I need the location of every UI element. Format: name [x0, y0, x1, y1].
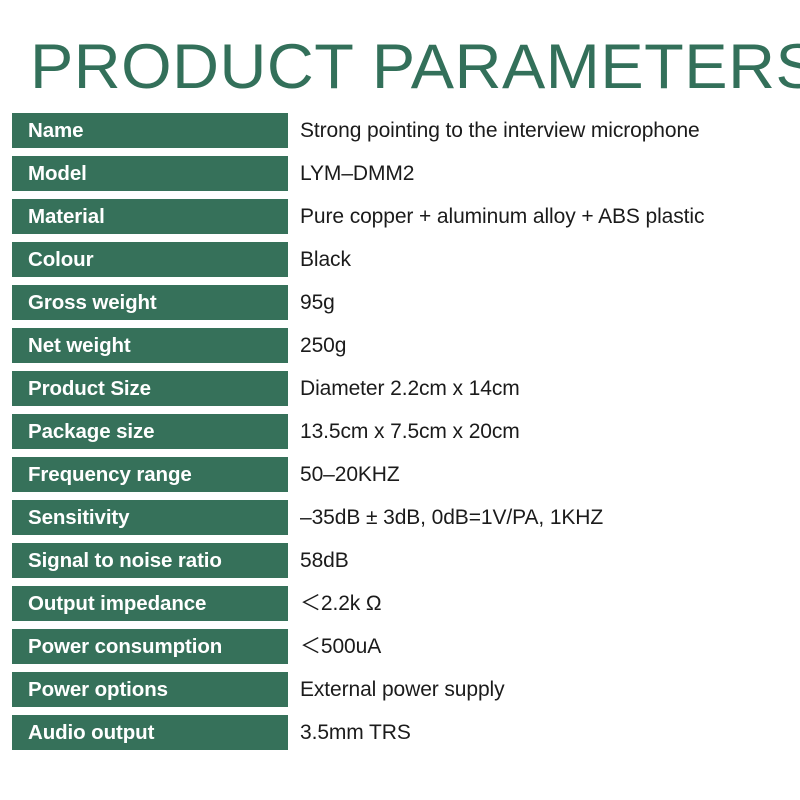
spec-value: Diameter 2.2cm x 14cm: [300, 371, 520, 406]
spec-value: LYM–DMM2: [300, 156, 414, 191]
spec-value: 250g: [300, 328, 346, 363]
spec-value: Pure copper + aluminum alloy + ABS plast…: [300, 199, 704, 234]
spec-value: –35dB ± 3dB, 0dB=1V/PA, 1KHZ: [300, 500, 603, 535]
product-parameters-sheet: PRODUCT PARAMETERS NameStrong pointing t…: [0, 0, 800, 800]
table-row: Product SizeDiameter 2.2cm x 14cm: [0, 371, 800, 414]
spec-label: Colour: [12, 242, 288, 277]
spec-label: Power consumption: [12, 629, 288, 664]
table-row: Net weight250g: [0, 328, 800, 371]
spec-value: 13.5cm x 7.5cm x 20cm: [300, 414, 520, 449]
spec-label: Gross weight: [12, 285, 288, 320]
spec-value: Black: [300, 242, 351, 277]
table-row: Gross weight95g: [0, 285, 800, 328]
spec-value: 3.5mm TRS: [300, 715, 411, 750]
table-row: Power optionsExternal power supply: [0, 672, 800, 715]
table-row: Output impedance＜2.2k Ω: [0, 586, 800, 629]
spec-label: Signal to noise ratio: [12, 543, 288, 578]
spec-value: External power supply: [300, 672, 505, 707]
spec-value: ＜2.2k Ω: [300, 586, 382, 621]
spec-value: ＜500uA: [300, 629, 381, 664]
table-row: ColourBlack: [0, 242, 800, 285]
spec-label: Net weight: [12, 328, 288, 363]
spec-label: Material: [12, 199, 288, 234]
table-row: Sensitivity–35dB ± 3dB, 0dB=1V/PA, 1KHZ: [0, 500, 800, 543]
spec-value: 58dB: [300, 543, 349, 578]
table-row: Frequency range50–20KHZ: [0, 457, 800, 500]
spec-label: Audio output: [12, 715, 288, 750]
spec-value: 50–20KHZ: [300, 457, 400, 492]
table-row: NameStrong pointing to the interview mic…: [0, 113, 800, 156]
table-row: Signal to noise ratio58dB: [0, 543, 800, 586]
spec-label: Model: [12, 156, 288, 191]
spec-label: Name: [12, 113, 288, 148]
spec-label: Package size: [12, 414, 288, 449]
spec-table: NameStrong pointing to the interview mic…: [0, 113, 800, 758]
page-title: PRODUCT PARAMETERS: [30, 36, 794, 98]
spec-label: Product Size: [12, 371, 288, 406]
spec-label: Frequency range: [12, 457, 288, 492]
spec-value: 95g: [300, 285, 335, 320]
spec-label: Power options: [12, 672, 288, 707]
spec-label: Sensitivity: [12, 500, 288, 535]
table-row: Package size13.5cm x 7.5cm x 20cm: [0, 414, 800, 457]
table-row: Audio output3.5mm TRS: [0, 715, 800, 758]
table-row: ModelLYM–DMM2: [0, 156, 800, 199]
spec-label: Output impedance: [12, 586, 288, 621]
table-row: Power consumption＜500uA: [0, 629, 800, 672]
spec-value: Strong pointing to the interview microph…: [300, 113, 700, 148]
table-row: MaterialPure copper + aluminum alloy + A…: [0, 199, 800, 242]
